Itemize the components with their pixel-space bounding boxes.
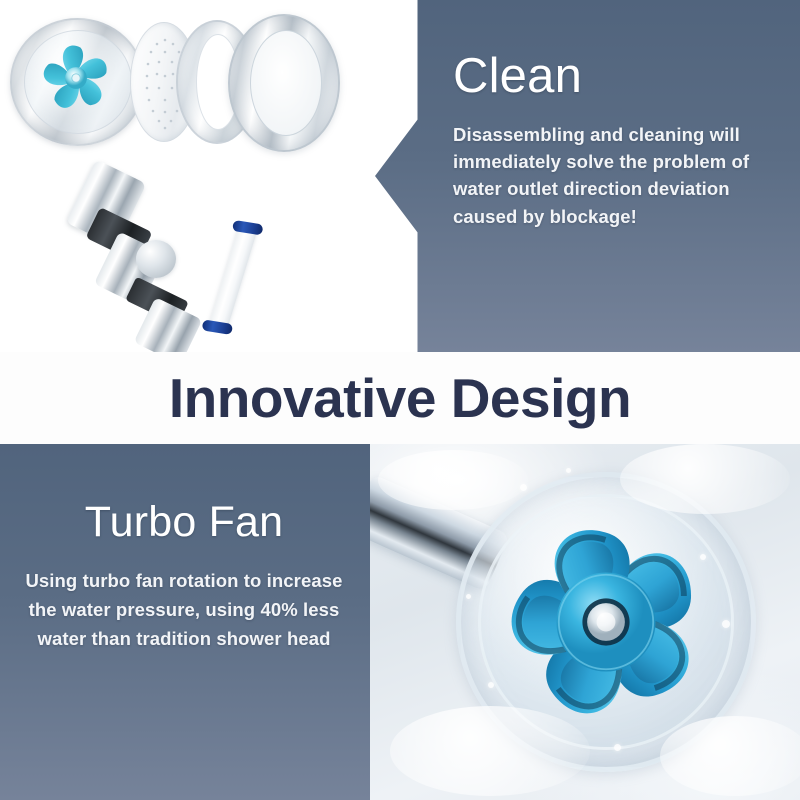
- turbo-panel-title: Turbo Fan: [22, 501, 346, 544]
- water-droplet-icon: [466, 594, 471, 599]
- turbo-panel-body: Using turbo fan rotation to increase the…: [22, 566, 346, 654]
- product-infographic: Clean Disassembling and cleaning will im…: [0, 0, 800, 800]
- water-droplet-icon: [614, 744, 621, 751]
- turbo-fan-photo: [370, 444, 800, 800]
- bottom-section: Turbo Fan Using turbo fan rotation to in…: [0, 444, 800, 800]
- clean-panel-body: Disassembling and cleaning will immediat…: [453, 121, 766, 230]
- nut-opening-icon: [250, 30, 322, 136]
- water-droplet-icon: [722, 620, 730, 628]
- turbo-fan-blades-icon: [488, 504, 724, 740]
- clean-feature-panel: Clean Disassembling and cleaning will im…: [375, 0, 800, 352]
- headline-text: Innovative Design: [169, 371, 631, 426]
- turbine-fan-icon: [34, 36, 118, 120]
- turbo-fan-feature-panel: Turbo Fan Using turbo fan rotation to in…: [0, 444, 420, 800]
- clean-panel-title: Clean: [453, 52, 766, 101]
- water-droplet-icon: [488, 682, 494, 688]
- water-droplet-icon: [700, 554, 706, 560]
- headline-banner: Innovative Design: [0, 352, 800, 444]
- filter-cartridge-icon: [199, 214, 267, 339]
- water-droplet-icon: [520, 484, 527, 491]
- water-droplet-icon: [566, 468, 571, 473]
- top-section: Clean Disassembling and cleaning will im…: [0, 0, 800, 352]
- handle-knob-icon: [136, 240, 176, 278]
